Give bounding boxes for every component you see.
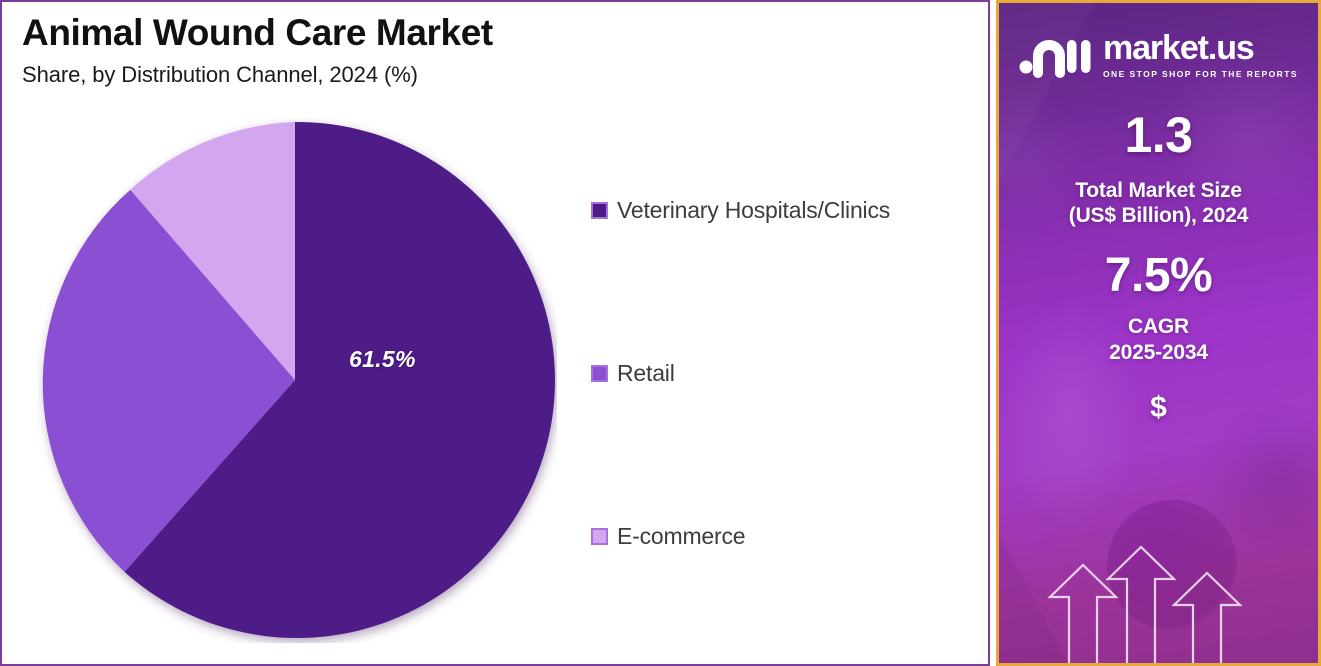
legend-item-label: Veterinary Hospitals/Clinics bbox=[617, 199, 890, 222]
logo-tagline: ONE STOP SHOP FOR THE REPORTS bbox=[1103, 69, 1298, 79]
legend-item-e-commerce[interactable]: E-commerce bbox=[591, 525, 745, 548]
chart-panel: Animal Wound Care Market Share, by Distr… bbox=[0, 0, 990, 666]
legend-item-label: Retail bbox=[617, 362, 675, 385]
legend-swatch-icon bbox=[591, 365, 608, 382]
stat-caption-line-1: Total Market Size bbox=[999, 178, 1318, 203]
pie-chart: 61.5% bbox=[37, 118, 557, 643]
stat-cagr-caption: CAGR 2025-2034 bbox=[999, 314, 1318, 364]
stat-market-size-value: 1.3 bbox=[999, 110, 1318, 160]
legend-swatch-icon bbox=[591, 202, 608, 219]
chart-header: Animal Wound Care Market Share, by Distr… bbox=[22, 12, 922, 88]
infographic-root: Animal Wound Care Market Share, by Distr… bbox=[0, 0, 1321, 666]
chart-subtitle: Share, by Distribution Channel, 2024 (%) bbox=[22, 62, 922, 88]
market-us-logo-icon bbox=[1019, 32, 1093, 78]
stats-panel: market.us ONE STOP SHOP FOR THE REPORTS … bbox=[996, 0, 1321, 666]
growth-arrows-icon bbox=[999, 543, 1318, 663]
stat-caption-line-2: 2025-2034 bbox=[999, 340, 1318, 365]
brand-logo[interactable]: market.us ONE STOP SHOP FOR THE REPORTS bbox=[999, 3, 1318, 79]
legend-item-label: E-commerce bbox=[617, 525, 745, 548]
pie-slice-value-label: 61.5% bbox=[349, 346, 416, 373]
dollar-sign-icon: $ bbox=[999, 393, 1318, 423]
stat-caption-line-1: CAGR bbox=[999, 314, 1318, 339]
pie-chart-svg bbox=[37, 118, 557, 643]
legend-item-retail[interactable]: Retail bbox=[591, 362, 675, 385]
logo-text-block: market.us ONE STOP SHOP FOR THE REPORTS bbox=[1103, 31, 1298, 79]
page-title: Animal Wound Care Market bbox=[22, 12, 922, 55]
stat-cagr-value: 7.5% bbox=[999, 252, 1318, 300]
chart-legend: Veterinary Hospitals/Clinics Retail E-co… bbox=[591, 152, 981, 592]
stat-market-size-caption: Total Market Size (US$ Billion), 2024 bbox=[999, 178, 1318, 228]
logo-wordmark: market.us bbox=[1103, 31, 1298, 65]
legend-swatch-icon bbox=[591, 528, 608, 545]
pie-slices bbox=[43, 122, 555, 638]
stat-caption-line-2: (US$ Billion), 2024 bbox=[999, 203, 1318, 228]
legend-item-veterinary-hospitals-clinics[interactable]: Veterinary Hospitals/Clinics bbox=[591, 199, 890, 222]
